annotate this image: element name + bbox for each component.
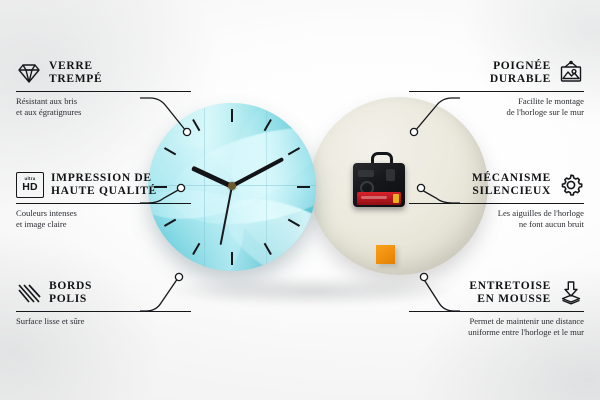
feature-rule bbox=[16, 203, 191, 204]
feature-title-line1: BORDS bbox=[49, 280, 92, 294]
clock-mechanism bbox=[353, 159, 405, 207]
feature-desc-line2: et aux égratignures bbox=[16, 107, 191, 118]
feature-title-line1: POIGNÉE bbox=[490, 60, 551, 74]
feature-title-line1: IMPRESSION DE bbox=[51, 172, 157, 186]
feature-title-line1: VERRE bbox=[49, 60, 102, 74]
feature-bords-polis: BORDS POLIS Surface lisse et sûre bbox=[16, 276, 191, 327]
feature-desc-line1: Résistant aux bris bbox=[16, 96, 191, 107]
diagonal-lines-icon bbox=[16, 280, 42, 306]
feature-title-line2: SILENCIEUX bbox=[472, 185, 551, 199]
feature-entretoise-en-mousse: ENTRETOISE EN MOUSSE Permet de maintenir… bbox=[409, 276, 584, 338]
battery bbox=[357, 192, 401, 205]
feature-mecanisme-silencieux: MÉCANISME SILENCIEUX Les aiguilles de l'… bbox=[409, 168, 584, 230]
feature-rule bbox=[16, 311, 191, 312]
feature-title-line1: MÉCANISME bbox=[472, 172, 551, 186]
ultra-hd-icon-large-label: HD bbox=[22, 182, 38, 193]
feature-desc-line1: Les aiguilles de l'horloge bbox=[409, 208, 584, 219]
feature-impression-haute-qualite: ultra HD IMPRESSION DE HAUTE QUALITÉ Cou… bbox=[16, 168, 191, 230]
feature-title-line2: EN MOUSSE bbox=[469, 293, 551, 307]
feature-desc-line2: de l'horloge sur le mur bbox=[409, 107, 584, 118]
gear-icon bbox=[558, 172, 584, 198]
feature-desc-line1: Facilite le montage bbox=[409, 96, 584, 107]
feature-title-line1: ENTRETOISE bbox=[469, 280, 551, 294]
feature-desc-line2: ne font aucun bruit bbox=[409, 219, 584, 230]
hand-center-cap bbox=[228, 182, 236, 190]
feature-desc-line2: uniforme entre l'horloge et le mur bbox=[409, 327, 584, 338]
feature-rule bbox=[409, 203, 584, 204]
feature-title-line2: POLIS bbox=[49, 293, 92, 307]
feature-title-line2: HAUTE QUALITÉ bbox=[51, 185, 157, 199]
diamond-icon bbox=[16, 60, 42, 86]
feature-rule bbox=[409, 311, 584, 312]
hanging-frame-icon bbox=[558, 60, 584, 86]
mechanism-detail bbox=[386, 169, 395, 181]
feature-desc-line1: Permet de maintenir une distance bbox=[409, 316, 584, 327]
foam-spacer-icon bbox=[558, 280, 584, 306]
feature-desc-line1: Surface lisse et sûre bbox=[16, 316, 191, 327]
feature-verre-trempe: VERRE TREMPÉ Résistant aux bris et aux é… bbox=[16, 56, 191, 118]
feature-rule bbox=[409, 91, 584, 92]
feature-desc-line1: Couleurs intenses bbox=[16, 208, 191, 219]
foam-spacer bbox=[376, 245, 395, 264]
feature-rule bbox=[16, 91, 191, 92]
feature-poignee-durable: POIGNÉE DURABLE Facilite le montage de bbox=[409, 56, 584, 118]
mechanism-detail bbox=[358, 170, 374, 177]
ultra-hd-icon: ultra HD bbox=[16, 172, 44, 198]
hour-marker bbox=[297, 186, 310, 188]
feature-title-line2: TREMPÉ bbox=[49, 73, 102, 87]
mechanism-body bbox=[353, 163, 405, 207]
infographic-stage: VERRE TREMPÉ Résistant aux bris et aux é… bbox=[0, 0, 600, 400]
feature-desc-line2: et image claire bbox=[16, 219, 191, 230]
hour-marker bbox=[231, 252, 233, 265]
feature-title-line2: DURABLE bbox=[490, 73, 551, 87]
hour-marker bbox=[231, 109, 233, 122]
